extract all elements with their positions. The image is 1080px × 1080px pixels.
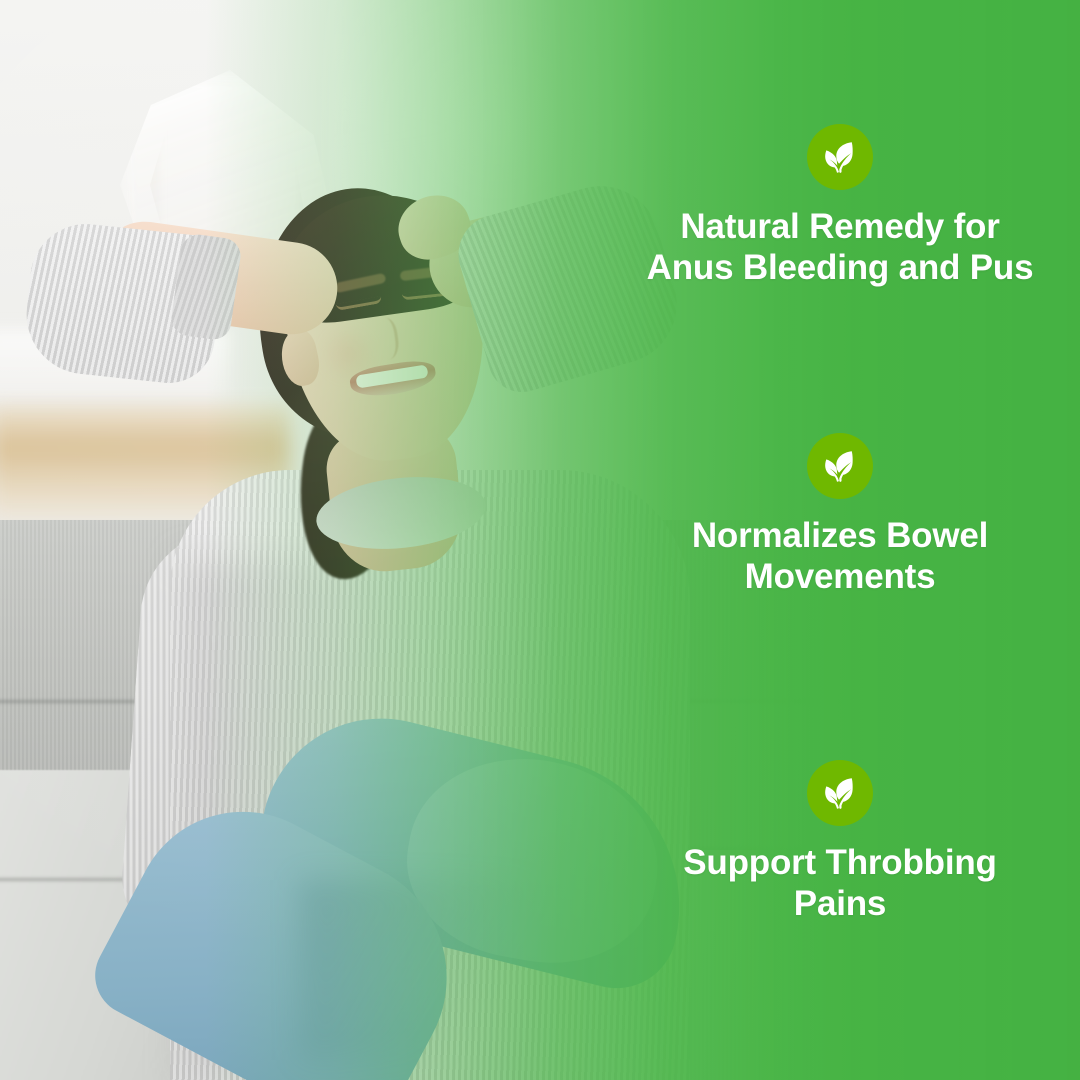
leaf-icon xyxy=(807,433,873,499)
promo-graphic: Natural Remedy for Anus Bleeding and Pus… xyxy=(0,0,1080,1080)
feature-item-3: Support Throbbing Pains xyxy=(600,760,1080,925)
feature-text-1-line2: Anus Bleeding and Pus xyxy=(647,248,1034,287)
feature-text-2-line2: Movements xyxy=(745,557,936,596)
feature-text-1: Natural Remedy for Anus Bleeding and Pus xyxy=(620,207,1060,289)
feature-text-3-line1: Support Throbbing xyxy=(683,843,996,882)
feature-text-2-line1: Normalizes Bowel xyxy=(692,516,988,555)
feature-list: Natural Remedy for Anus Bleeding and Pus… xyxy=(600,0,1080,1080)
leaf-icon xyxy=(807,124,873,190)
feature-item-1: Natural Remedy for Anus Bleeding and Pus xyxy=(600,124,1080,289)
feature-text-1-line1: Natural Remedy for xyxy=(680,207,999,246)
feature-text-3: Support Throbbing Pains xyxy=(620,843,1060,925)
feature-text-3-line2: Pains xyxy=(794,884,886,923)
feature-item-2: Normalizes Bowel Movements xyxy=(600,433,1080,598)
feature-text-2: Normalizes Bowel Movements xyxy=(620,516,1060,598)
leaf-icon xyxy=(807,760,873,826)
